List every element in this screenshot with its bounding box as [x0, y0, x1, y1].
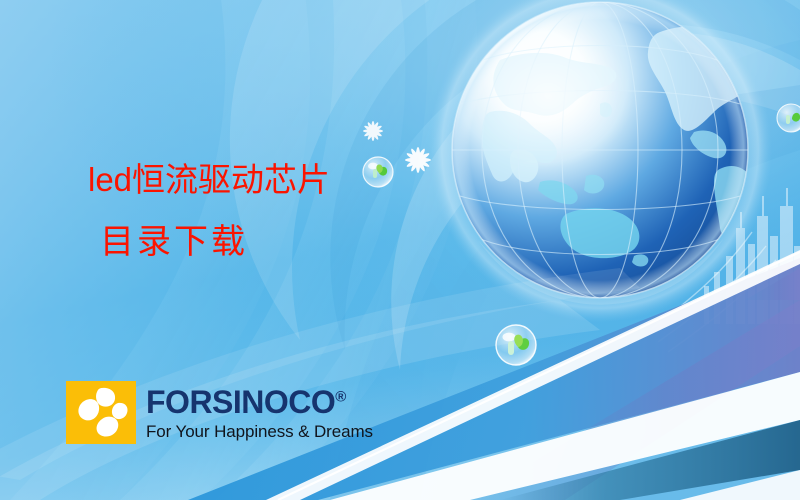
logo-mark-icon	[66, 381, 136, 444]
logo-wordmark: FORSINOCO® For Your Happiness & Dreams	[146, 386, 373, 440]
logo-tagline: For Your Happiness & Dreams	[146, 423, 373, 440]
logo-company-name: FORSINOCO®	[146, 386, 373, 418]
slide-canvas: led恒流驱动芯片 目录下载 FORSINOCO® For Your Happi…	[0, 0, 800, 500]
logo-company-name-text: FORSINOCO	[146, 384, 335, 420]
headline-line-1: led恒流驱动芯片	[88, 163, 330, 196]
bubble-icon	[777, 104, 800, 132]
headline-block: led恒流驱动芯片 目录下载	[88, 163, 330, 259]
registered-trademark-icon: ®	[335, 388, 346, 405]
company-logo: FORSINOCO® For Your Happiness & Dreams	[66, 381, 373, 444]
bubble-icon	[363, 157, 393, 187]
headline-line-2: 目录下载	[100, 225, 330, 259]
bubble-icon	[496, 325, 536, 365]
